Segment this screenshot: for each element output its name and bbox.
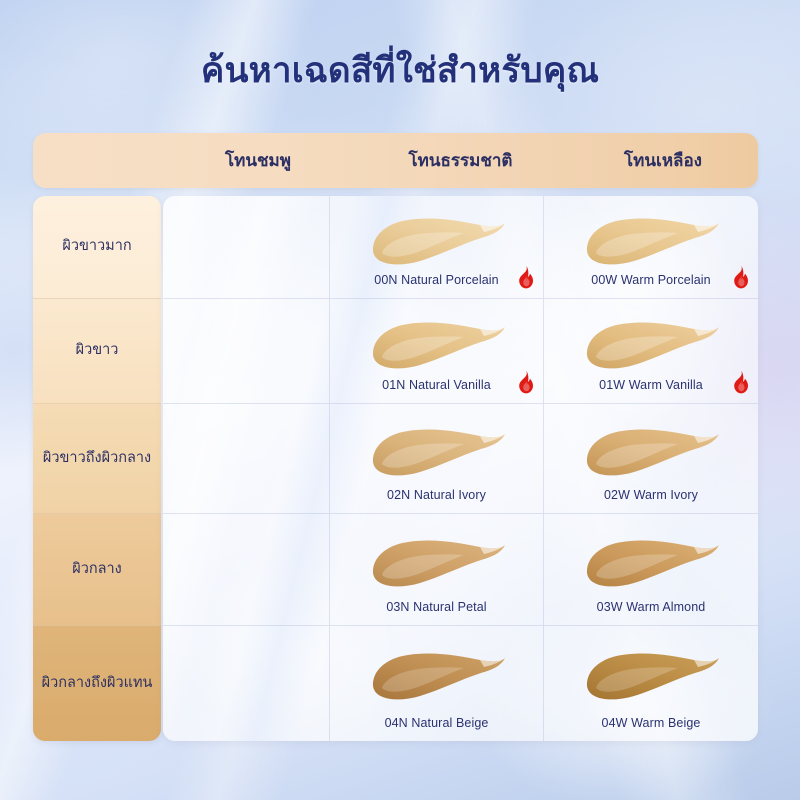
- shade-cell-medium-to-tan-pink: [163, 626, 330, 741]
- shade-cell-01N[interactable]: 01N Natural Vanilla: [330, 299, 544, 403]
- shade-label-00N: 00N Natural Porcelain: [330, 273, 543, 287]
- row-label-very-fair-text: ผิวขาวมาก: [62, 237, 131, 257]
- shade-label-02N: 02N Natural Ivory: [330, 488, 543, 502]
- shade-cell-01W[interactable]: 01W Warm Vanilla: [544, 299, 758, 403]
- shade-grid-panel: 00N Natural Porcelain: [163, 196, 758, 741]
- swatch-00W: [582, 211, 720, 267]
- swatch-04N: [368, 646, 506, 702]
- row-label-very-fair: ผิวขาวมาก: [33, 196, 161, 299]
- shade-row-medium: 03N Natural Petal: [163, 514, 758, 626]
- shade-cell-very-fair-pink: [163, 196, 330, 298]
- column-header-warm: โทนเหลือง: [568, 133, 758, 188]
- row-label-medium-to-tan-text: ผิวกลางถึงผิวแทน: [42, 674, 153, 694]
- row-label-medium-to-tan: ผิวกลางถึงผิวแทน: [33, 626, 161, 741]
- swatch-02N: [368, 422, 506, 478]
- flame-icon: [731, 370, 751, 394]
- shade-label-04N: 04N Natural Beige: [330, 716, 543, 730]
- shade-label-04W: 04W Warm Beige: [544, 716, 758, 730]
- page-title: ค้นหาเฉดสีที่ใช่สำหรับคุณ: [0, 43, 800, 98]
- shade-label-02W: 02W Warm Ivory: [544, 488, 758, 502]
- shade-label-03W: 03W Warm Almond: [544, 600, 758, 614]
- shade-cell-02N[interactable]: 02N Natural Ivory: [330, 404, 544, 513]
- shade-finder-page: ค้นหาเฉดสีที่ใช่สำหรับคุณ โทนชมพู โทนธรร…: [0, 0, 800, 800]
- column-header-pink-label: โทนชมพู: [225, 147, 291, 174]
- column-header-pink: โทนชมพู: [163, 133, 353, 188]
- swatch-04W: [582, 646, 720, 702]
- shade-cell-04W[interactable]: 04W Warm Beige: [544, 626, 758, 741]
- shade-cell-03W[interactable]: 03W Warm Almond: [544, 514, 758, 625]
- swatch-02W: [582, 422, 720, 478]
- column-header-natural-label: โทนธรรมชาติ: [409, 147, 513, 174]
- row-label-fair-to-medium-text: ผิวขาวถึงผิวกลาง: [43, 449, 151, 469]
- shade-grid: 00N Natural Porcelain: [163, 196, 758, 741]
- swatch-01N: [368, 315, 506, 371]
- shade-label-00W: 00W Warm Porcelain: [544, 273, 758, 287]
- shade-cell-00W[interactable]: 00W Warm Porcelain: [544, 196, 758, 298]
- shade-row-fair-to-medium: 02N Natural Ivory: [163, 404, 758, 514]
- shade-label-03N: 03N Natural Petal: [330, 600, 543, 614]
- shade-row-very-fair: 00N Natural Porcelain: [163, 196, 758, 299]
- shade-cell-00N[interactable]: 00N Natural Porcelain: [330, 196, 544, 298]
- row-label-fair: ผิวขาว: [33, 299, 161, 404]
- column-header-natural: โทนธรรมชาติ: [353, 133, 568, 188]
- swatch-00N: [368, 211, 506, 267]
- swatch-03W: [582, 533, 720, 589]
- shade-cell-fair-to-medium-pink: [163, 404, 330, 513]
- row-label-fair-text: ผิวขาว: [76, 341, 119, 361]
- shade-label-01N: 01N Natural Vanilla: [330, 378, 543, 392]
- shade-cell-fair-pink: [163, 299, 330, 403]
- swatch-01W: [582, 315, 720, 371]
- swatch-03N: [368, 533, 506, 589]
- row-label-medium: ผิวกลาง: [33, 514, 161, 626]
- shade-row-fair: 01N Natural Vanilla: [163, 299, 758, 404]
- row-label-fair-to-medium: ผิวขาวถึงผิวกลาง: [33, 404, 161, 514]
- row-label-sidebar: ผิวขาวมาก ผิวขาว ผิวขาวถึงผิวกลาง ผิวกลา…: [33, 196, 161, 741]
- shade-cell-medium-pink: [163, 514, 330, 625]
- flame-icon: [731, 265, 751, 289]
- column-header-bar: โทนชมพู โทนธรรมชาติ โทนเหลือง: [33, 133, 758, 188]
- row-label-medium-text: ผิวกลาง: [72, 560, 122, 580]
- shade-cell-04N[interactable]: 04N Natural Beige: [330, 626, 544, 741]
- shade-cell-02W[interactable]: 02W Warm Ivory: [544, 404, 758, 513]
- shade-cell-03N[interactable]: 03N Natural Petal: [330, 514, 544, 625]
- flame-icon: [516, 265, 536, 289]
- column-header-warm-label: โทนเหลือง: [624, 147, 702, 174]
- shade-row-medium-to-tan: 04N Natural Beige: [163, 626, 758, 741]
- flame-icon: [516, 370, 536, 394]
- shade-label-01W: 01W Warm Vanilla: [544, 378, 758, 392]
